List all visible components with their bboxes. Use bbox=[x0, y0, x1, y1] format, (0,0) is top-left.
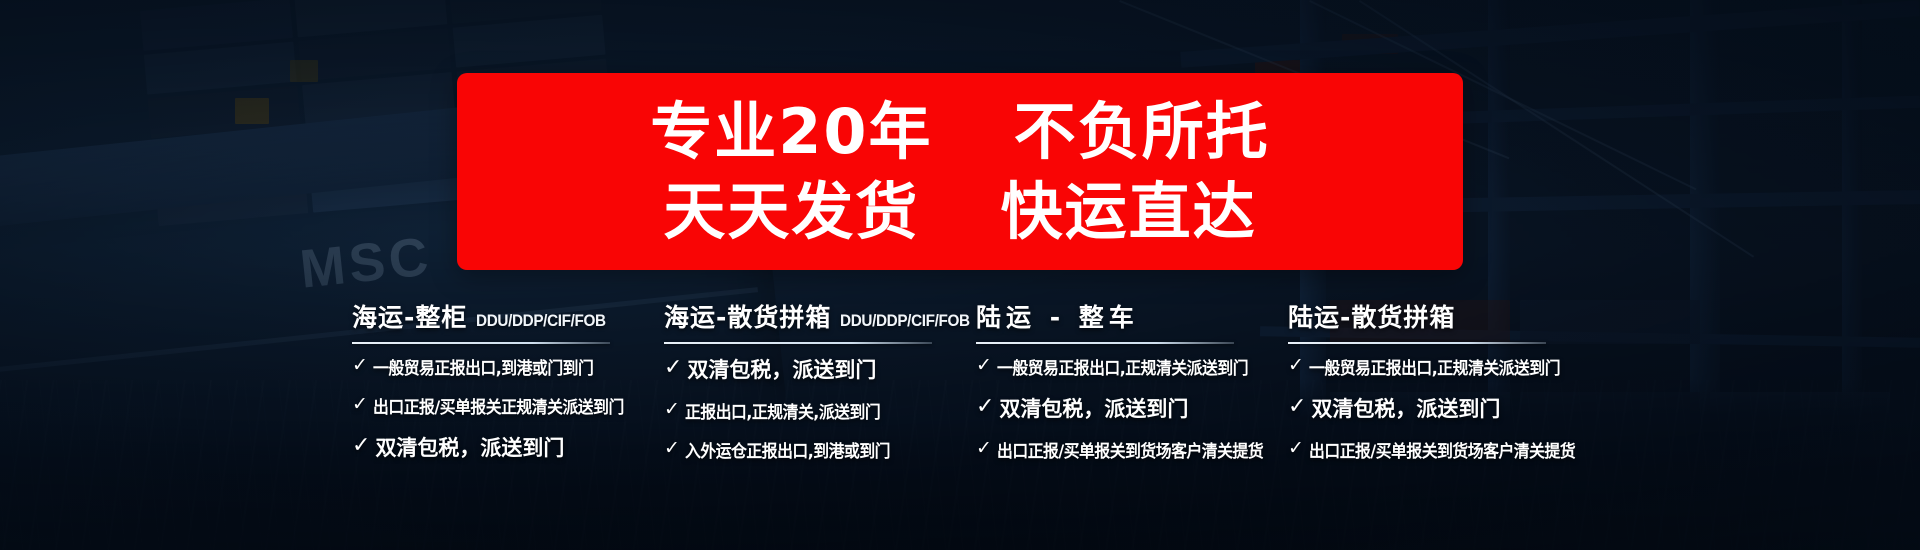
service-item: ✓ 双清包税，派送到门 bbox=[664, 354, 976, 384]
service-item-text: 一般贸易正报出口,正规清关派送到门 bbox=[1309, 354, 1560, 379]
service-column-land-ltl: 陆运-散货拼箱 ✓ 一般贸易正报出口,正规清关派送到门 ✓ 双清包税，派送到门 … bbox=[1288, 300, 1600, 490]
service-item-text: 一般贸易正报出口,到港或门到门 bbox=[373, 354, 593, 379]
check-mark-icon: ✓ bbox=[664, 400, 680, 419]
service-item: ✓ 一般贸易正报出口,正规清关派送到门 bbox=[976, 354, 1288, 379]
service-item-text: 正报出口,正规清关,派送到门 bbox=[685, 398, 880, 423]
service-item-text: 双清包税，派送到门 bbox=[1311, 393, 1500, 423]
service-item-text: 出口正报/买单报关正规清关派送到门 bbox=[373, 393, 624, 418]
service-column-title: 陆运 - 整车 bbox=[976, 298, 1139, 334]
service-item: ✓ 出口正报/买单报关正规清关派送到门 bbox=[352, 393, 664, 418]
service-item-list: ✓ 一般贸易正报出口,正规清关派送到门 ✓ 双清包税，派送到门 ✓ 出口正报/买… bbox=[976, 354, 1288, 462]
service-column-title: 海运-散货拼箱 bbox=[664, 298, 831, 334]
headline-line-2-part-2: 快运直达 bbox=[1001, 175, 1257, 248]
service-item: ✓ 双清包税，派送到门 bbox=[1288, 393, 1600, 423]
service-item-text: 双清包税，派送到门 bbox=[687, 354, 876, 384]
headline-line-1-part-1: 专业20年 bbox=[650, 95, 932, 168]
service-item-text: 入外运仓正报出口,到港或到门 bbox=[685, 437, 890, 462]
service-column-title: 海运-整柜 bbox=[352, 298, 467, 334]
service-item-text: 出口正报/买单报关到货场客户清关提货 bbox=[1309, 437, 1575, 462]
check-mark-icon: ✓ bbox=[664, 439, 680, 458]
service-column-subtitle: DDU/DDP/CIF/FOB bbox=[476, 311, 606, 334]
check-mark-icon: ✓ bbox=[1288, 439, 1304, 458]
check-mark-icon: ✓ bbox=[976, 396, 994, 418]
service-item-text: 一般贸易正报出口,正规清关派送到门 bbox=[997, 354, 1248, 379]
service-item: ✓ 正报出口,正规清关,派送到门 bbox=[664, 398, 976, 423]
service-item: ✓ 双清包税，派送到门 bbox=[976, 393, 1288, 423]
service-item: ✓ 一般贸易正报出口,到港或门到门 bbox=[352, 354, 664, 379]
divider bbox=[976, 342, 1234, 344]
check-mark-icon: ✓ bbox=[976, 439, 992, 458]
service-item-list: ✓ 一般贸易正报出口,正规清关派送到门 ✓ 双清包税，派送到门 ✓ 出口正报/买… bbox=[1288, 354, 1600, 462]
service-item-text: 双清包税，派送到门 bbox=[999, 393, 1188, 423]
service-column-header: 陆运-散货拼箱 bbox=[1288, 300, 1600, 334]
headline-plaque: 专业20年 不负所托 天天发货 快运直达 bbox=[457, 73, 1463, 270]
service-column-subtitle: DDU/DDP/CIF/FOB bbox=[840, 311, 970, 334]
service-item-list: ✓ 双清包税，派送到门 ✓ 正报出口,正规清关,派送到门 ✓ 入外运仓正报出口,… bbox=[664, 354, 976, 462]
headline-line-2-part-1: 天天发货 bbox=[663, 175, 919, 248]
service-column-sea-fcl: 海运-整柜 DDU/DDP/CIF/FOB ✓ 一般贸易正报出口,到港或门到门 … bbox=[352, 300, 664, 490]
service-column-title: 陆运-散货拼箱 bbox=[1288, 298, 1455, 334]
service-column-sea-lcl: 海运-散货拼箱 DDU/DDP/CIF/FOB ✓ 双清包税，派送到门 ✓ 正报… bbox=[664, 300, 976, 490]
promo-banner: MSC 专业20年 不负所托 天天发货 快运 bbox=[0, 0, 1920, 550]
service-columns: 海运-整柜 DDU/DDP/CIF/FOB ✓ 一般贸易正报出口,到港或门到门 … bbox=[0, 300, 1920, 490]
headline-line-2: 天天发货 快运直达 bbox=[663, 179, 1256, 244]
service-item-text: 出口正报/买单报关到货场客户清关提货 bbox=[997, 437, 1263, 462]
service-column-land-ftl: 陆运 - 整车 ✓ 一般贸易正报出口,正规清关派送到门 ✓ 双清包税，派送到门 … bbox=[976, 300, 1288, 490]
divider bbox=[1288, 342, 1546, 344]
check-mark-icon: ✓ bbox=[352, 356, 368, 375]
service-item: ✓ 出口正报/买单报关到货场客户清关提货 bbox=[1288, 437, 1600, 462]
service-item: ✓ 双清包税，派送到门 bbox=[352, 432, 664, 462]
divider bbox=[664, 342, 932, 344]
service-item: ✓ 出口正报/买单报关到货场客户清关提货 bbox=[976, 437, 1288, 462]
service-column-header: 海运-整柜 DDU/DDP/CIF/FOB bbox=[352, 300, 664, 334]
service-item: ✓ 一般贸易正报出口,正规清关派送到门 bbox=[1288, 354, 1600, 379]
check-mark-icon: ✓ bbox=[352, 395, 368, 414]
check-mark-icon: ✓ bbox=[1288, 396, 1306, 418]
service-column-header: 海运-散货拼箱 DDU/DDP/CIF/FOB bbox=[664, 300, 976, 334]
service-item-list: ✓ 一般贸易正报出口,到港或门到门 ✓ 出口正报/买单报关正规清关派送到门 ✓ … bbox=[352, 354, 664, 462]
check-mark-icon: ✓ bbox=[352, 435, 370, 457]
headline-line-1-part-2: 不负所托 bbox=[1014, 95, 1270, 168]
headline-line-1: 专业20年 不负所托 bbox=[650, 99, 1269, 164]
service-column-header: 陆运 - 整车 bbox=[976, 300, 1288, 334]
check-mark-icon: ✓ bbox=[976, 356, 992, 375]
service-item-text: 双清包税，派送到门 bbox=[375, 432, 564, 462]
divider bbox=[352, 342, 610, 344]
check-mark-icon: ✓ bbox=[1288, 356, 1304, 375]
service-item: ✓ 入外运仓正报出口,到港或到门 bbox=[664, 437, 976, 462]
check-mark-icon: ✓ bbox=[664, 357, 682, 379]
